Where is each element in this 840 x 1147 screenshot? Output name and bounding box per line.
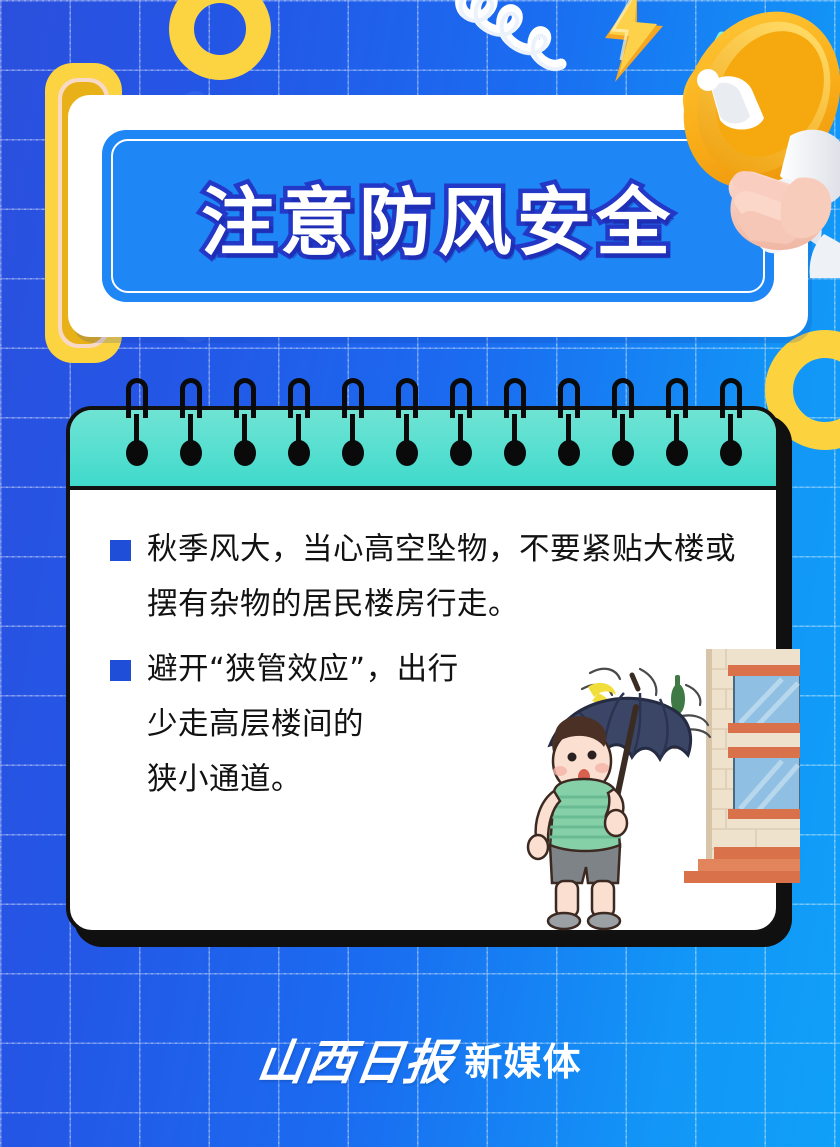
- spiral-binding: [66, 378, 784, 488]
- brand-name: 山西日报: [254, 1023, 460, 1093]
- spiral-ring: [288, 378, 310, 478]
- spiral-ring: [180, 378, 202, 478]
- list-item-text: 秋季风大，当心高空坠物，不要紧贴大楼或摆有杂物的居民楼房行走。: [147, 522, 746, 632]
- spiral-ring: [234, 378, 256, 478]
- person-with-umbrella-illustration: [520, 635, 800, 935]
- spiral-ring: [720, 378, 742, 478]
- spiral-ring: [396, 378, 418, 478]
- list-item: 秋季风大，当心高空坠物，不要紧贴大楼或摆有杂物的居民楼房行走。: [100, 522, 746, 632]
- spiral-ring: [666, 378, 688, 478]
- bullet-square-icon: [110, 660, 131, 681]
- spiral-ring: [558, 378, 580, 478]
- spiral-ring: [342, 378, 364, 478]
- poster-root: 注意防风安全: [0, 0, 840, 1147]
- person-icon: [528, 716, 627, 929]
- spiral-squiggle-icon: [455, 0, 585, 106]
- list-item-text: 避开“狭管效应”，出行 少走高层楼间的 狭小通道。: [147, 642, 459, 807]
- spiral-ring: [126, 378, 148, 478]
- bullet-square-icon: [110, 540, 131, 561]
- megaphone-icon: [612, 8, 840, 278]
- brand-suffix: 新媒体: [465, 1031, 582, 1086]
- spiral-ring: [504, 378, 526, 478]
- building-icon: [684, 649, 800, 883]
- spiral-ring: [450, 378, 472, 478]
- brand-logo: 山西日报 新媒体: [0, 1018, 840, 1098]
- spiral-ring: [612, 378, 634, 478]
